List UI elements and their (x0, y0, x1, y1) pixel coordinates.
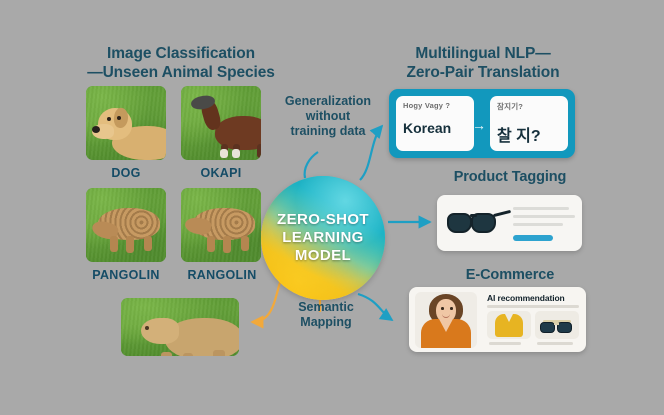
placeholder-line (487, 305, 579, 308)
rangolin-photo[interactable] (181, 188, 261, 262)
semantic-label-line2: Mapping (278, 315, 374, 330)
connector-core-to-generalization (305, 152, 318, 178)
core-label: ZERO-SHOT LEARNING MODEL (261, 176, 385, 300)
core-label-line1: ZERO-SHOT (277, 211, 369, 229)
core-label-line3: MODEL (277, 247, 369, 265)
ecommerce-card[interactable]: AI recommendation (409, 287, 586, 352)
pangolin-photo[interactable] (86, 188, 166, 262)
pangolin-photo-caption: PANGOLIN (80, 268, 172, 282)
translation-panel: Hogy Vagy ? Korean → 잠지기? 찰 지? (389, 89, 575, 158)
multilingual-nlp-heading-line1: Multilingual NLP— (383, 44, 583, 63)
placeholder-line (489, 342, 521, 345)
sunglasses-thumbnail[interactable] (535, 311, 579, 339)
generalization-label-line2: without (272, 109, 384, 124)
image-classification-heading-line2: —Unseen Animal Species (76, 63, 286, 82)
placeholder-line (513, 207, 569, 210)
unknown-animal-photo[interactable] (121, 298, 239, 356)
rangolin-photo-caption: RANGOLIN (176, 268, 268, 282)
dog-photo[interactable] (86, 86, 166, 160)
placeholder-line (537, 342, 573, 345)
model-photo (415, 292, 477, 348)
semantic-mapping-arrow-label: Semantic Mapping (278, 300, 374, 330)
sunglasses-icon (447, 209, 509, 233)
target-phrase: 찰 지? (497, 122, 561, 146)
multilingual-nlp-heading-line2: Zero-Pair Translation (383, 63, 583, 82)
product-tagging-card[interactable] (437, 195, 582, 251)
okapi-photo-caption: OKAPI (181, 166, 261, 180)
image-classification-heading-line1: Image Classification (76, 44, 286, 63)
generalization-arrow-label: Generalization without training data (272, 94, 384, 139)
okapi-photo[interactable] (181, 86, 261, 160)
target-phrase-small: 잠지기? (497, 101, 561, 112)
placeholder-line (513, 215, 575, 218)
ecommerce-heading: E-Commerce (420, 266, 600, 285)
yellow-sweater-thumbnail[interactable] (487, 311, 531, 339)
source-language-card[interactable]: Hogy Vagy ? Korean (396, 96, 474, 151)
generalization-label-line3: training data (272, 124, 384, 139)
translation-arrow-icon: → (472, 117, 486, 133)
zero-shot-learning-model-node[interactable]: ZERO-SHOT LEARNING MODEL (261, 176, 385, 300)
source-language-name: Korean (403, 120, 467, 136)
diagram-canvas: Image Classification —Unseen Animal Spec… (0, 0, 664, 415)
multilingual-nlp-heading: Multilingual NLP— Zero-Pair Translation (383, 44, 583, 82)
ai-recommendation-title: AI recommendation (487, 293, 565, 303)
core-label-line2: LEARNING (277, 229, 369, 247)
product-cta-button[interactable] (513, 235, 553, 241)
semantic-label-line1: Semantic (278, 300, 374, 315)
dog-photo-caption: DOG (86, 166, 166, 180)
image-classification-heading: Image Classification —Unseen Animal Spec… (76, 44, 286, 82)
source-phrase: Hogy Vagy ? (403, 101, 467, 110)
generalization-label-line1: Generalization (272, 94, 384, 109)
target-language-card[interactable]: 잠지기? 찰 지? (490, 96, 568, 151)
placeholder-line (513, 223, 563, 226)
product-tagging-heading: Product Tagging (420, 168, 600, 187)
